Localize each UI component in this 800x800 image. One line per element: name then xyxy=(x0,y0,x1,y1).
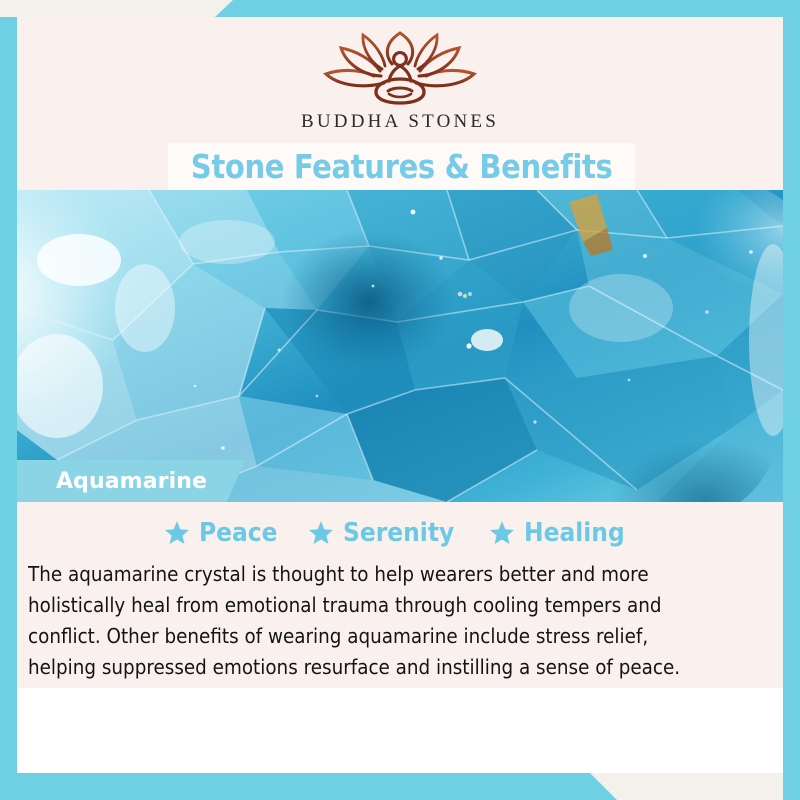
card-inner: BUDDHA STONES Stone Features & Benefits xyxy=(17,17,783,773)
crystal-photo xyxy=(17,190,783,502)
feature-label: Peace xyxy=(199,520,278,546)
page-title-banner: Stone Features & Benefits xyxy=(168,143,635,190)
brand-wordmark: BUDDHA STONES xyxy=(301,111,499,133)
feature-item: Serenity xyxy=(308,520,467,546)
frame-bottom-right-corner xyxy=(783,773,800,800)
frame-bottom-bar xyxy=(0,773,800,800)
infographic-card: BUDDHA STONES Stone Features & Benefits xyxy=(0,0,800,800)
brand-logo: BUDDHA STONES xyxy=(17,17,783,143)
feature-label: Healing xyxy=(524,520,625,546)
star-icon xyxy=(489,520,515,546)
frame-left-bar xyxy=(0,17,17,800)
page-title: Stone Features & Benefits xyxy=(191,150,613,183)
feature-label: Serenity xyxy=(343,520,454,546)
lotus-meditation-figure-icon xyxy=(310,31,490,109)
description-text: The aquamarine crystal is thought to hel… xyxy=(28,559,695,683)
bottom-white-plate xyxy=(17,688,783,773)
frame-right-bar xyxy=(783,0,800,800)
frame-top-bar xyxy=(215,0,800,17)
stone-name-ribbon: Aquamarine xyxy=(17,460,245,502)
feature-list: Peace Serenity Healing xyxy=(17,511,783,555)
star-icon xyxy=(308,520,334,546)
feature-item: Peace xyxy=(164,520,286,546)
feature-item: Healing xyxy=(489,520,636,546)
stone-name-label: Aquamarine xyxy=(56,469,207,494)
star-icon xyxy=(164,520,190,546)
